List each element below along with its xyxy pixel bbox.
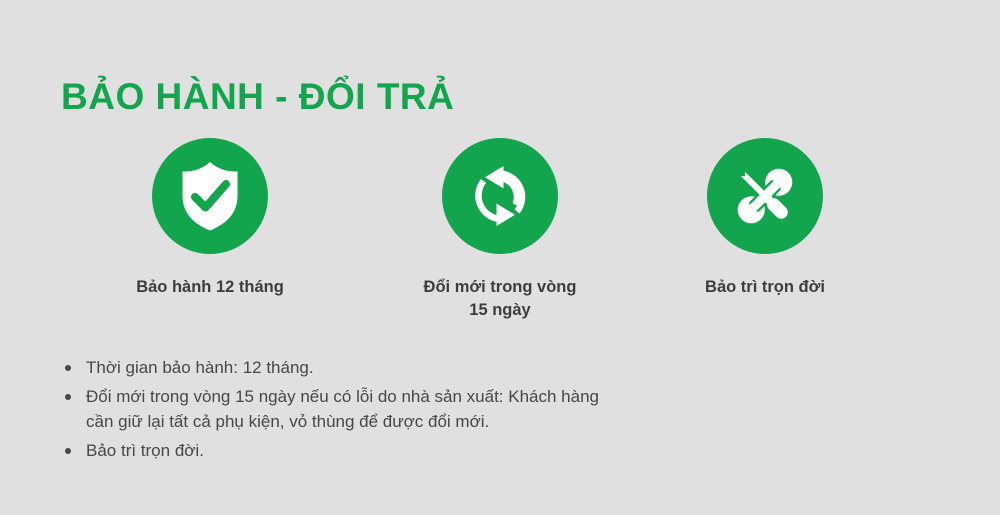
bullet-dot-icon: [65, 365, 71, 371]
feature-maintenance: Bảo trì trọn đời: [655, 130, 875, 299]
policy-bullet-list: Thời gian bảo hành: 12 tháng. Đổi mới tr…: [62, 355, 742, 466]
page-title: BẢO HÀNH - ĐỔI TRẢ: [61, 75, 454, 119]
list-item: Đổi mới trong vòng 15 ngày nếu có lỗi do…: [62, 384, 742, 435]
feature-exchange: Đổi mới trong vòng 15 ngày: [390, 130, 610, 322]
feature-label: Đổi mới trong vòng 15 ngày: [390, 276, 610, 322]
shield-check-icon: [152, 138, 268, 254]
list-item-text: Thời gian bảo hành: 12 tháng.: [86, 355, 742, 381]
list-item: Thời gian bảo hành: 12 tháng.: [62, 355, 742, 381]
feature-row: Bảo hành 12 tháng Đổi mới trong vòng 15 …: [0, 130, 1000, 320]
feature-label: Bảo hành 12 tháng: [100, 276, 320, 299]
list-item-text: Đổi mới trong vòng 15 ngày nếu có lỗi do…: [86, 384, 742, 435]
bullet-dot-icon: [65, 394, 71, 400]
warranty-return-banner: BẢO HÀNH - ĐỔI TRẢ Bảo hành 12 tháng: [0, 0, 1000, 515]
refresh-exchange-icon: [442, 138, 558, 254]
feature-warranty: Bảo hành 12 tháng: [100, 130, 320, 299]
list-item-text: Bảo trì trọn đời.: [86, 438, 742, 464]
wrench-screwdriver-icon: [707, 138, 823, 254]
bullet-dot-icon: [65, 448, 71, 454]
list-item: Bảo trì trọn đời.: [62, 438, 742, 464]
feature-label: Bảo trì trọn đời: [655, 276, 875, 299]
